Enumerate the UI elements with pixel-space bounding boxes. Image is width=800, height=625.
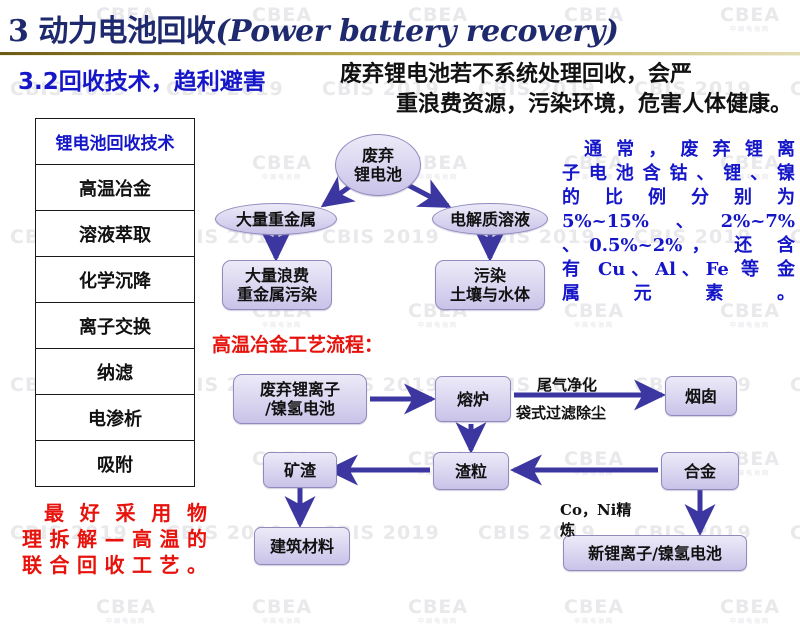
table-cell-label: 纳滤 xyxy=(97,359,133,385)
process-node-new-battery: 新锂离子/镍氢电池 xyxy=(563,535,747,571)
watermark-brand: CBEA中国电池网 xyxy=(96,596,156,625)
recycling-technology-table: 锂电池回收技术 高温冶金 溶液萃取 化学沉降 离子交换 纳滤 电渗析 吸附 xyxy=(35,118,195,487)
page-title-en: (Power battery recovery) xyxy=(215,14,618,49)
table-header-label: 锂电池回收技术 xyxy=(56,129,175,154)
process-node-waste-battery-input: 废弃锂离子 /镍氢电池 xyxy=(233,374,367,424)
table-cell-label: 溶液萃取 xyxy=(79,221,151,247)
watermark-brand-sub: 中国电池网 xyxy=(252,616,312,625)
table-row: 电渗析 xyxy=(36,395,194,441)
process-node-mine-slag: 矿渣 xyxy=(263,452,337,488)
flow-node-waste-battery: 废弃 锂电池 xyxy=(335,134,421,196)
process-node-new-battery-label: 新锂离子/镍氢电池 xyxy=(588,544,722,563)
edge-label-bag-filter: 袋式过滤除尘 xyxy=(516,404,606,423)
flow-node-soil-water-pollution: 污染 土壤与水体 xyxy=(435,260,545,310)
table-cell-label: 高温冶金 xyxy=(79,175,151,201)
edge-label-gas-purification: 尾气净化 xyxy=(537,376,597,395)
table-cell-label: 离子交换 xyxy=(79,313,151,339)
process-node-input-line2: /镍氢电池 xyxy=(265,399,335,418)
flow-node-heavy-metals: 大量重金属 xyxy=(215,203,337,235)
composition-line-5: 、0.5%~2%， 还 含 xyxy=(562,234,795,258)
edge-label-gas-line1: 尾气净化 xyxy=(537,376,597,394)
conclusion-line-3: 联合回收工艺。 xyxy=(22,552,207,578)
flow-node-waste-battery-line2: 锂电池 xyxy=(354,165,402,184)
process-node-input-line1: 废弃锂离子 xyxy=(260,380,340,399)
edge-label-refining-cont: 炼 xyxy=(560,521,575,540)
watermark-brand: CBEA中国电池网 xyxy=(252,596,312,625)
watermark-brand: CBEA中国电池网 xyxy=(564,596,624,625)
flow-node-soil-water-pollution-line1: 污染 xyxy=(474,266,506,285)
process-node-furnace-label: 熔炉 xyxy=(457,390,489,409)
edge-label-refine-line2: 炼 xyxy=(560,521,575,539)
process-node-slag-particles: 渣粒 xyxy=(433,452,509,490)
intro-paragraph: 废弃锂电池若不系统处理回收，会严 重浪费资源，污染环境，危害人体健康。 xyxy=(340,60,792,120)
composition-line-7: 属元素。 xyxy=(562,282,795,306)
table-cell-label: 电渗析 xyxy=(88,405,142,431)
watermark-brand-sub: 中国电池网 xyxy=(564,616,624,625)
process-node-furnace: 熔炉 xyxy=(435,376,511,422)
table-row: 离子交换 xyxy=(36,303,194,349)
flow-node-waste-pollution: 大量浪费 重金属污染 xyxy=(222,260,332,310)
table-header-row: 锂电池回收技术 xyxy=(36,119,194,165)
flow-node-heavy-metals-label: 大量重金属 xyxy=(236,210,316,229)
title-divider-highlight xyxy=(0,55,800,56)
flow-node-soil-water-pollution-line2: 土壤与水体 xyxy=(450,285,530,304)
process-node-slag-particles-label: 渣粒 xyxy=(455,462,487,481)
flow-node-electrolyte-label: 电解质溶液 xyxy=(450,210,530,229)
process-node-building-material: 建筑材料 xyxy=(254,527,350,565)
process-node-chimney: 烟囱 xyxy=(665,376,737,416)
flow-node-waste-pollution-line1: 大量浪费 xyxy=(245,266,309,285)
flow-node-electrolyte: 电解质溶液 xyxy=(432,203,548,235)
watermark-brand-sub: 中国电池网 xyxy=(96,616,156,625)
table-cell-label: 化学沉降 xyxy=(79,267,151,293)
watermark-brand: CBEA中国电池网 xyxy=(720,596,780,625)
composition-line-1: 通常，废弃锂离 xyxy=(562,138,795,162)
process-node-chimney-label: 烟囱 xyxy=(685,387,717,406)
edge-label-refine-line1: Co，Ni精 xyxy=(560,501,631,519)
conclusion-line-1: 最好采用物 xyxy=(22,500,207,526)
table-row: 吸附 xyxy=(36,441,194,486)
section-heading: 3.2回收技术，趋利避害 xyxy=(18,62,266,96)
process-heading: 高温冶金工艺流程： xyxy=(212,330,383,357)
composition-line-4: 5%~15%、2%~7% xyxy=(562,210,795,234)
intro-line-1: 废弃锂电池若不系统处理回收，会严 xyxy=(340,62,692,87)
flow-node-waste-pollution-line2: 重金属污染 xyxy=(237,285,317,304)
table-row: 纳滤 xyxy=(36,349,194,395)
edge-label-gas-line2: 袋式过滤除尘 xyxy=(516,404,606,422)
composition-note: 通常，废弃锂离 子电池含钴、锂、镍 的 比 例 分 别 为 5%~15%、2%~… xyxy=(562,138,795,306)
table-cell-label: 吸附 xyxy=(97,451,133,477)
process-node-alloy-label: 合金 xyxy=(684,462,716,481)
watermark-brand-sub: 中国电池网 xyxy=(408,616,468,625)
composition-line-3: 的 比 例 分 别 为 xyxy=(562,186,795,210)
composition-line-2: 子电池含钴、锂、镍 xyxy=(562,162,795,186)
edge-label-cobalt-nickel-refining: Co，Ni精 xyxy=(560,501,631,520)
process-node-alloy: 合金 xyxy=(661,452,739,490)
composition-line-6: 有 Cu、Al、Fe 等 金 xyxy=(562,258,795,282)
intro-line-2: 重浪费资源，污染环境，危害人体健康。 xyxy=(340,90,792,120)
watermark-brand-sub: 中国电池网 xyxy=(720,616,780,625)
process-node-building-material-label: 建筑材料 xyxy=(270,537,334,556)
conclusion-line-2: 理拆解—高温的 xyxy=(22,526,207,552)
conclusion-note: 最好采用物 理拆解—高温的 联合回收工艺。 xyxy=(22,500,207,578)
table-row: 溶液萃取 xyxy=(36,211,194,257)
page-title: 3 动力电池回收(Power battery recovery) xyxy=(8,6,748,50)
table-row: 化学沉降 xyxy=(36,257,194,303)
page-title-cn: 3 动力电池回收 xyxy=(8,14,215,49)
table-row: 高温冶金 xyxy=(36,165,194,211)
watermark-brand: CBEA中国电池网 xyxy=(408,596,468,625)
flow-node-waste-battery-line1: 废弃 xyxy=(362,146,394,165)
process-node-mine-slag-label: 矿渣 xyxy=(284,461,316,480)
